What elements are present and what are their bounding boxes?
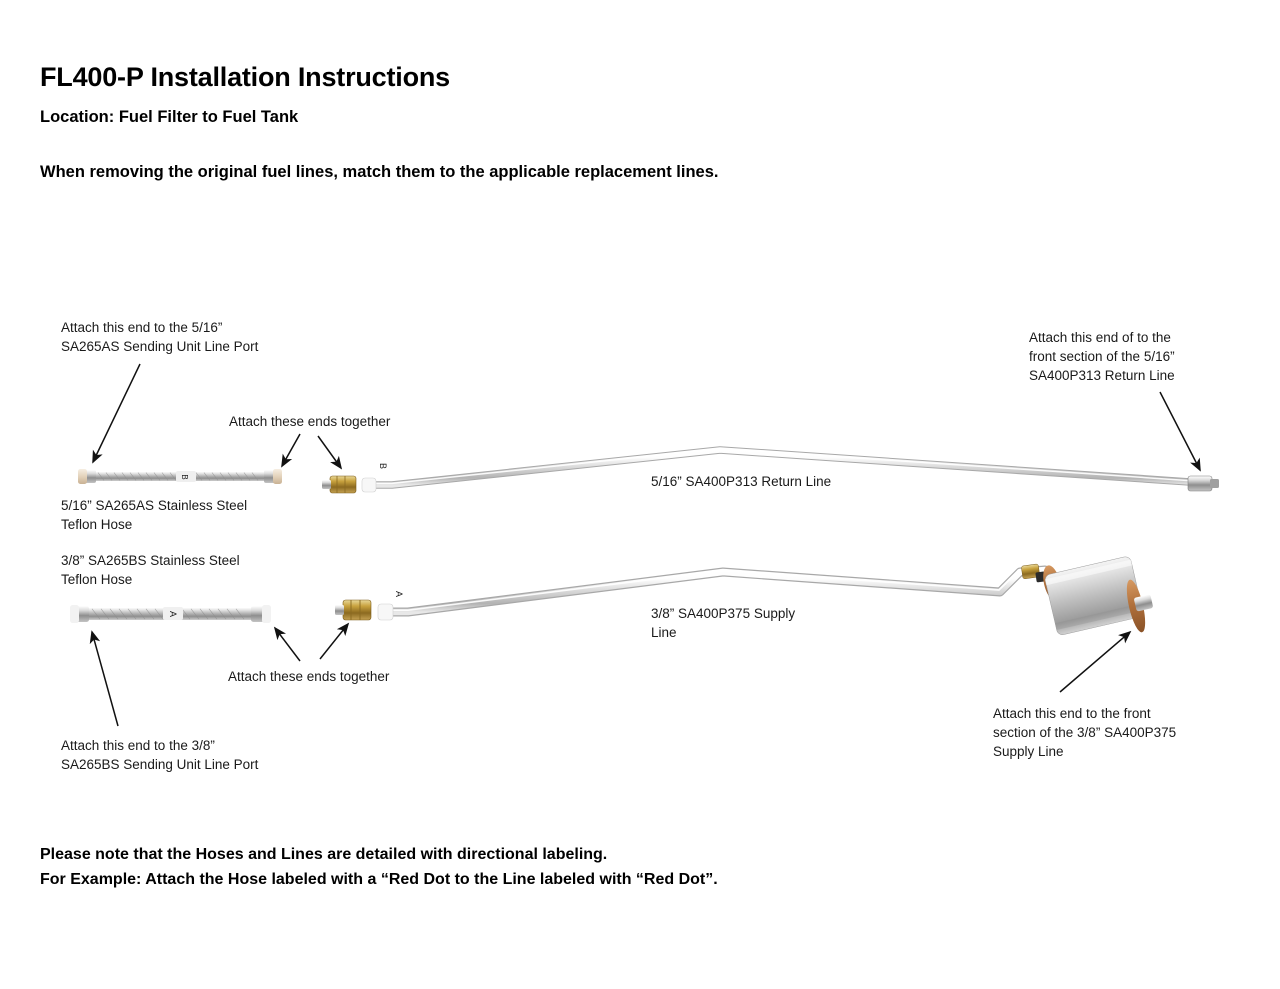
filter-outlet-fitting bbox=[1134, 594, 1154, 611]
caption-line-sa400p313: 5/16” SA400P313 Return Line bbox=[651, 472, 831, 491]
arrow-mid-upper-right bbox=[318, 436, 341, 468]
callout-bottom-right: Attach this end to the front section of … bbox=[993, 704, 1176, 761]
return-line-marker: B bbox=[378, 463, 388, 469]
callout-mid-lower: Attach these ends together bbox=[228, 667, 389, 686]
return-line-right-fitting bbox=[1188, 476, 1219, 491]
supply-line-marker: A bbox=[394, 591, 404, 597]
hose-sa265bs: A bbox=[70, 605, 271, 623]
hose-sa265as: B bbox=[78, 469, 282, 484]
hose-a-marker: B bbox=[180, 474, 189, 479]
callout-mid-upper: Attach these ends together bbox=[229, 412, 390, 431]
arrow-top-right bbox=[1160, 392, 1200, 470]
supply-line-left-fitting bbox=[335, 600, 371, 620]
page-subtitle: Location: Fuel Filter to Fuel Tank bbox=[40, 108, 298, 127]
callout-bottom-left: Attach this end to the 3/8” SA265BS Send… bbox=[61, 736, 258, 774]
arrow-bottom-right bbox=[1060, 632, 1130, 692]
callout-top-right: Attach this end of to the front section … bbox=[1029, 328, 1175, 385]
arrow-bottom-left bbox=[92, 632, 118, 726]
page-title: FL400-P Installation Instructions bbox=[40, 62, 450, 93]
hose-b-marker: A bbox=[168, 611, 178, 617]
arrow-mid-upper-left bbox=[282, 434, 300, 466]
fuel-filter-canister bbox=[1021, 556, 1153, 636]
instruction-sheet: FL400-P Installation Instructions Locati… bbox=[0, 0, 1280, 989]
caption-hose-sa265as: 5/16” SA265AS Stainless Steel Teflon Hos… bbox=[61, 496, 247, 534]
arrow-mid-lower-right bbox=[320, 624, 348, 659]
filter-crimp-outlet bbox=[1123, 578, 1149, 634]
arrow-mid-lower-left bbox=[275, 628, 300, 661]
filter-crimp-inlet bbox=[1040, 564, 1064, 603]
note-line-2: For Example: Attach the Hose labeled wit… bbox=[40, 867, 718, 892]
note-line-1: Please note that the Hoses and Lines are… bbox=[40, 842, 718, 867]
callout-top-left: Attach this end to the 5/16” SA265AS Sen… bbox=[61, 318, 258, 356]
arrow-top-left bbox=[93, 364, 140, 462]
fuel-line-diagram: B bbox=[0, 0, 1280, 989]
caption-hose-sa265bs: 3/8” SA265BS Stainless Steel Teflon Hose bbox=[61, 551, 240, 589]
return-line-left-fitting bbox=[322, 476, 356, 493]
filter-inlet-fitting bbox=[1021, 564, 1040, 579]
caption-line-sa400p375: 3/8” SA400P375 Supply Line bbox=[651, 604, 795, 642]
directional-labeling-note: Please note that the Hoses and Lines are… bbox=[40, 842, 718, 892]
lead-paragraph: When removing the original fuel lines, m… bbox=[40, 163, 718, 182]
